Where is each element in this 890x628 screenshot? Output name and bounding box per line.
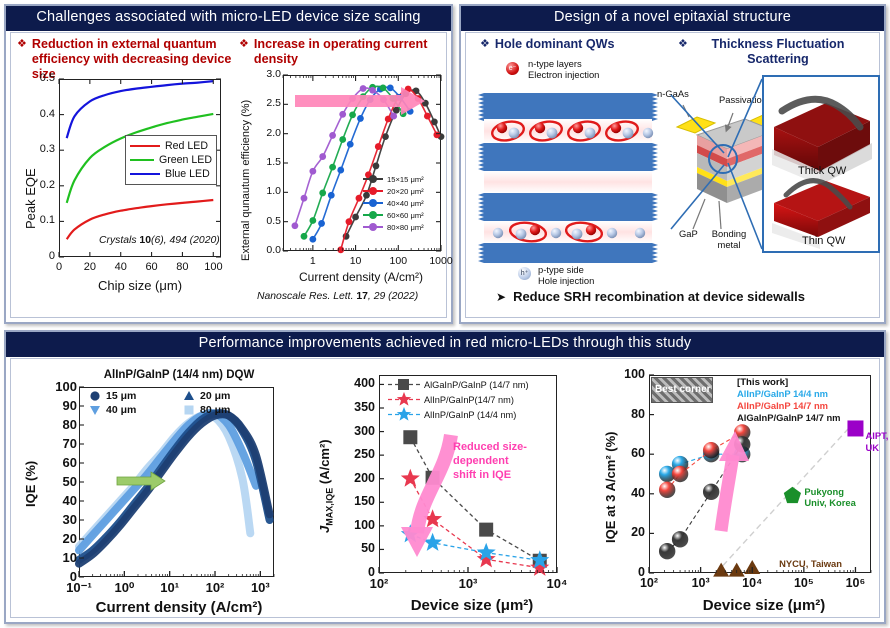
chartB-citation-journal: Nanoscale Res. Lett.: [257, 291, 353, 302]
chartE-x-axis-label: Device size (μm²): [659, 597, 869, 614]
legend-item-size: 80×80 μm²: [363, 221, 424, 233]
panel-challenges-body: ❖ Reduction in external quantum efficien…: [10, 32, 447, 318]
tick-label: 90: [45, 398, 77, 413]
legend-item-size: 60×60 μm²: [363, 209, 424, 221]
tick-label: 100: [385, 255, 411, 267]
tick-label: 100: [341, 518, 375, 532]
legend-marker-triangle-down: [87, 403, 103, 416]
tick-label: 70: [45, 436, 77, 451]
legend-label: AlInP/GaInP 14/7 nm: [737, 400, 841, 412]
tick-label: 50: [45, 474, 77, 489]
chartC-legend: 15 μm20 μm40 μm80 μm: [87, 389, 269, 416]
legend-swatch: [363, 226, 383, 228]
chartD-y-axis-label: JMAX,IQE (A/cm²): [317, 439, 335, 533]
chartD-annotation: Reduced size-dependent shift in IQE: [453, 441, 533, 482]
legend-marker-dot: [369, 211, 377, 219]
tick-label: 10⁴: [540, 576, 574, 591]
legend-label: 60×60 μm²: [387, 211, 424, 220]
tick-label: 60: [45, 455, 77, 470]
reference-label: NYCU, Taiwan: [779, 558, 842, 569]
legend-marker-triangle-up: [181, 389, 197, 402]
legend-item-triangle-down: 40 μm: [87, 403, 175, 416]
legend-swatch-red: [130, 145, 160, 148]
tick-label: 10⁶: [838, 576, 872, 590]
legend-item-circle: 15 μm: [87, 389, 175, 402]
legend-label: 40×40 μm²: [387, 199, 424, 208]
this-work-label: [This work]: [737, 377, 788, 388]
tick-label: 80: [611, 407, 645, 421]
tick-label: 100: [611, 367, 645, 381]
chartE-legend: AlInP/GaInP 14/4 nmAlInP/GaInP 14/7 nmAl…: [737, 388, 841, 423]
tick-label: 0.3: [35, 143, 55, 155]
chartA-legend: Red LED Green LED Blue LED: [125, 135, 217, 185]
tick-label: 10²: [198, 580, 232, 595]
chart-iqe3a-vs-device-size: 020406080100 10²10³10⁴10⁵10⁶ IQE at 3 A/…: [597, 363, 887, 621]
legend-label: 15 μm: [106, 390, 136, 402]
tick-label: 10⁴: [735, 576, 769, 590]
tick-label: 0.2: [35, 179, 55, 191]
tick-label: 0.4: [35, 108, 55, 120]
diamond-bullet-icon: ❖: [239, 37, 249, 50]
chartC-legend-grid: 15 μm20 μm40 μm80 μm: [87, 389, 269, 416]
legend-label: AlGaInP/GaInP (14/7 nm): [424, 380, 529, 390]
legend-label: AlGaInP/GaInP 14/7 nm: [737, 412, 841, 424]
legend-marker: [387, 407, 421, 422]
tick-label: 40: [45, 493, 77, 508]
tick-label: 10³: [243, 580, 277, 595]
diamond-bullet-icon: ❖: [17, 37, 27, 50]
panel-performance-body: AlInP/GaInP (14/4 nm) DQW 01020304050607…: [10, 358, 880, 618]
tick-label: 0.0: [255, 244, 281, 256]
legend-label-green: Green LED: [159, 154, 212, 166]
tick-label: 1.0: [255, 185, 281, 197]
chartD-ylabel-unit: (A/cm²): [317, 439, 332, 487]
chart-peak-eqe-vs-chip-size: 00.10.20.30.40.5 020406080100 Peak EQE C…: [13, 73, 231, 313]
legend-item-triangle-up: 20 μm: [181, 389, 269, 402]
legend-marker: [387, 392, 421, 407]
legend-item-size: 20×20 μm²: [363, 185, 424, 197]
tick-label: 1: [300, 255, 326, 267]
tick-label: 10⁵: [787, 576, 821, 590]
best-corner-label: Best corner: [655, 384, 711, 395]
tick-label: 10³: [451, 576, 485, 591]
inset-connector-lines: [466, 33, 885, 323]
legend-label-blue: Blue LED: [165, 168, 210, 180]
legend-swatch: [363, 214, 383, 216]
tick-label: 10: [343, 255, 369, 267]
legend-item-size: 15×15 μm²: [363, 173, 424, 185]
chartC-x-axis-label: Current density (A/cm²): [59, 599, 299, 616]
chartA-citation-volume: 10: [139, 235, 151, 246]
tick-label: 3.0: [255, 68, 281, 80]
tick-label: 0.1: [35, 214, 55, 226]
tick-label: 80: [173, 261, 191, 273]
legend-item-blue-led: Blue LED: [130, 167, 212, 181]
tick-label: 400: [341, 376, 375, 390]
tick-label: 1000: [428, 255, 454, 267]
tick-label: 10⁻¹: [62, 580, 96, 596]
tick-label: 10¹: [153, 580, 187, 595]
tick-label: 20: [45, 531, 77, 546]
legend-item-size: 40×40 μm²: [363, 197, 424, 209]
legend-marker-dot: [369, 223, 377, 231]
chartA-citation-rest: (6), 494 (2020): [151, 235, 220, 246]
chartA-citation-journal: Crystals: [99, 235, 137, 246]
chart-jmax-vs-device-size: 050100150200250300350400 10²10³10⁴ JMAX,…: [305, 363, 595, 621]
legend-label: 20 μm: [200, 390, 230, 402]
chartB-citation-rest: , 29 (2022): [368, 291, 418, 302]
chart-iqe-vs-current-density: AlInP/GaInP (14/4 nm) DQW 01020304050607…: [15, 363, 305, 621]
panel-design: Design of a novel epitaxial structure ❖ …: [459, 4, 886, 324]
tick-label: 60: [143, 261, 161, 273]
legend-label-red: Red LED: [165, 140, 208, 152]
chartA-x-axis-label: Chip size (μm): [59, 278, 221, 293]
tick-label: 10: [45, 550, 77, 565]
chartB-citation: Nanoscale Res. Lett. 17, 29 (2022): [257, 291, 418, 302]
legend-item-red-led: Red LED: [130, 139, 212, 153]
tick-label: 2.5: [255, 97, 281, 109]
reference-label: AIPT, UK: [865, 430, 890, 453]
legend-marker-square: [181, 403, 197, 416]
legend-item-green-led: Green LED: [130, 153, 212, 167]
tick-label: 50: [341, 541, 375, 555]
tick-label: 350: [341, 400, 375, 414]
conclusion-srh-label: Reduce SRH recombination at device sidew…: [513, 289, 805, 304]
tick-label: 80: [45, 417, 77, 432]
tick-label: 2.0: [255, 127, 281, 139]
tick-label: 1.5: [255, 156, 281, 168]
legend-marker-circle: [87, 389, 103, 402]
legend-label: 15×15 μm²: [387, 175, 424, 184]
conclusion-srh: ➤ Reduce SRH recombination at device sid…: [496, 289, 805, 304]
legend-item-square: 80 μm: [181, 403, 269, 416]
legend-label: AlInP/GaInP (14/4 nm): [424, 410, 516, 420]
panel-design-title: Design of a novel epitaxial structure: [461, 6, 884, 31]
panel-challenges: Challenges associated with micro-LED dev…: [4, 4, 453, 324]
panel-design-body: ❖ Hole dominant QWs ❖ Thickness Fluctuat…: [465, 32, 880, 318]
legend-label: 20×20 μm²: [387, 187, 424, 196]
tick-label: 0.5: [255, 215, 281, 227]
legend-swatch-green: [130, 159, 154, 162]
chartD-ylabel-sub: MAX,IQE: [325, 488, 335, 526]
tick-label: 30: [45, 512, 77, 527]
chartA-y-axis-label: Peak EQE: [23, 168, 38, 229]
chartE-y-axis-label: IQE at 3 A/cm² (%): [603, 432, 618, 543]
reference-label: Pukyong Univ, Korea: [804, 486, 866, 509]
panel-challenges-title: Challenges associated with micro-LED dev…: [6, 6, 451, 31]
legend-marker-dot: [369, 187, 377, 195]
chartA-citation: Crystals 10(6), 494 (2020): [99, 235, 220, 246]
legend-swatch-blue: [130, 173, 160, 176]
chartC-y-axis-label: IQE (%): [23, 461, 38, 507]
chartB-y-axis-label: External qunautum efficiency (%): [240, 100, 252, 261]
chartB-citation-volume: 17: [356, 291, 368, 302]
tick-label: 10³: [684, 576, 718, 590]
legend-item-star: AlInP/GaInP(14/7 nm): [387, 392, 529, 407]
tick-label: 10²: [362, 576, 396, 591]
bullet-current-density: ❖ Increase in operating current density: [239, 37, 439, 67]
legend-swatch: [363, 190, 383, 192]
tick-label: 20: [81, 261, 99, 273]
tick-label: 100: [45, 379, 77, 394]
legend-marker-dot: [369, 175, 377, 183]
legend-label: 80×80 μm²: [387, 223, 424, 232]
legend-item-star: AlInP/GaInP (14/4 nm): [387, 407, 529, 422]
tick-label: 100: [204, 261, 222, 273]
chart-eqe-vs-current-density: 0.00.51.01.52.02.53.0 1101001000 Externa…: [227, 65, 449, 315]
tick-label: 10²: [632, 576, 666, 590]
legend-label: 40 μm: [106, 404, 136, 416]
chartD-legend: AlGaInP/GaInP (14/7 nm)AlInP/GaInP(14/7 …: [387, 377, 529, 422]
legend-marker: [387, 377, 421, 392]
figure-root: Challenges associated with micro-LED dev…: [0, 0, 890, 628]
tick-label: 10⁰: [107, 580, 141, 596]
tick-label: 0.5: [35, 72, 55, 84]
panel-performance-title: Performance improvements achieved in red…: [6, 332, 884, 357]
chartB-legend: 15×15 μm²20×20 μm²40×40 μm²60×60 μm²80×8…: [363, 173, 424, 233]
tick-label: 150: [341, 494, 375, 508]
chartD-x-axis-label: Device size (μm²): [367, 597, 577, 614]
arrow-bullet-icon: ➤: [496, 290, 506, 304]
tick-label: 0: [50, 261, 68, 273]
bullet-current-density-label: Increase in operating current density: [254, 37, 439, 67]
legend-item-square: AlGaInP/GaInP (14/7 nm): [387, 377, 529, 392]
chartB-x-axis-label: Current density (A/cm²): [271, 270, 451, 284]
legend-label: AlInP/GaInP(14/7 nm): [424, 395, 514, 405]
legend-label: 80 μm: [200, 404, 230, 416]
legend-label: AlInP/GaInP 14/4 nm: [737, 388, 841, 400]
legend-marker-dot: [369, 199, 377, 207]
panel-performance: Performance improvements achieved in red…: [4, 330, 886, 624]
tick-label: 200: [341, 471, 375, 485]
chartD-ylabel-main: J: [317, 526, 332, 533]
tick-label: 40: [112, 261, 130, 273]
legend-swatch: [363, 202, 383, 204]
tick-label: 300: [341, 424, 375, 438]
best-corner-marker: Best corner: [651, 377, 713, 403]
tick-label: 250: [341, 447, 375, 461]
legend-swatch: [363, 178, 383, 180]
